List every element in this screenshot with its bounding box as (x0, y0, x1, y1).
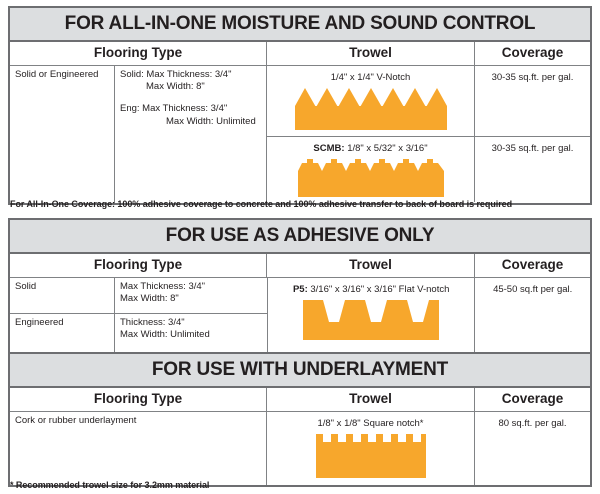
column-header-flooring-type: Flooring Type (10, 42, 267, 65)
coverage-text: 80 sq.ft. per gal. (480, 415, 585, 430)
trowel-illustration-scmb (272, 155, 469, 199)
trowel-label-text: 1/8" x 5/32" x 3/16" (345, 143, 428, 154)
spec-line: Solid: Max Thickness: 3/4" (120, 69, 261, 82)
v-notch-icon (295, 88, 447, 132)
cell-flooring-type-specs: Solid: Max Thickness: 3/4" Max Width: 8"… (115, 66, 267, 203)
trowel-coverage-stack: 1/4" x 1/4" V-Notch 30-35 sq.ft. per gal… (267, 66, 590, 203)
spec-line: Max Width: Unlimited (120, 116, 261, 129)
cell-coverage: 80 sq.ft. per gal. (475, 412, 590, 485)
table-header-row: Flooring Type Trowel Coverage (10, 254, 590, 278)
coverage-text: 45-50 sq.ft per gal. (480, 281, 585, 296)
trowel-label-text: 3/16" x 3/16" x 3/16" Flat V-notch (308, 284, 450, 295)
section-underlayment: FOR USE WITH UNDERLAYMENT Flooring Type … (8, 352, 592, 487)
square-notch-icon (316, 434, 426, 480)
cell-trowel-scmb: SCMB: 1/8" x 5/32" x 3/16" (267, 137, 475, 202)
spacer (120, 94, 261, 103)
column-header-flooring-type: Flooring Type (10, 254, 267, 277)
cell-flooring-type-category: Cork or rubber underlayment (10, 412, 267, 485)
spec-line: Max Width: 8" (120, 81, 261, 94)
spec-line: Max Width: Unlimited (120, 329, 262, 342)
column-header-trowel: Trowel (267, 42, 475, 65)
trowel-label-prefix: SCMB: (313, 143, 344, 154)
note-all-in-one-coverage: For All-In-One Coverage: 100% adhesive c… (10, 200, 512, 210)
trowel-selection-chart: FOR ALL-IN-ONE MOISTURE AND SOUND CONTRO… (0, 0, 600, 494)
flat-v-notch-icon (303, 300, 439, 342)
note-footer: * Recommended trowel size for 3.2mm mate… (10, 481, 209, 491)
scmb-notch-icon (298, 159, 444, 199)
cell-flooring-type-category: Solid or Engineered (10, 66, 115, 203)
flooring-type-text: Solid or Engineered (15, 69, 98, 80)
section-banner-all-in-one: FOR ALL-IN-ONE MOISTURE AND SOUND CONTRO… (10, 8, 590, 42)
table-underlayment: Flooring Type Trowel Coverage Cork or ru… (10, 388, 590, 485)
spec-line: Max Thickness: 3/4" (120, 281, 262, 294)
column-header-trowel: Trowel (267, 254, 475, 277)
column-header-coverage: Coverage (475, 388, 590, 411)
trowel-label: SCMB: 1/8" x 5/32" x 3/16" (272, 140, 469, 155)
column-header-flooring-type: Flooring Type (10, 388, 267, 411)
trowel-label-text: 1/8" x 1/8" Square notch* (317, 418, 423, 429)
section-banner-adhesive-only: FOR USE AS ADHESIVE ONLY (10, 220, 590, 254)
table-header-row: Flooring Type Trowel Coverage (10, 388, 590, 412)
trowel-illustration-square-notch (272, 430, 469, 480)
trowel-label-prefix: P5: (293, 284, 308, 295)
trowel-subrow: 1/4" x 1/4" V-Notch 30-35 sq.ft. per gal… (267, 66, 590, 136)
section-banner-underlayment: FOR USE WITH UNDERLAYMENT (10, 354, 590, 388)
trowel-label: 1/4" x 1/4" V-Notch (272, 69, 469, 84)
table-header-row: Flooring Type Trowel Coverage (10, 42, 590, 66)
spec-line: Thickness: 3/4" (120, 317, 262, 330)
trowel-label: P5: 3/16" x 3/16" x 3/16" Flat V-notch (273, 281, 469, 296)
cell-coverage: 30-35 sq.ft. per gal. (475, 66, 590, 136)
table-row: Solid Max Thickness: 3/4" Max Width: 8" (10, 278, 267, 313)
cell-flooring-type-specs: Max Thickness: 3/4" Max Width: 8" (115, 278, 267, 313)
spec-line: Eng: Max Thickness: 3/4" (120, 103, 261, 116)
column-header-trowel: Trowel (267, 388, 475, 411)
trowel-label: 1/8" x 1/8" Square notch* (272, 415, 469, 430)
cell-trowel-square-notch: 1/8" x 1/8" Square notch* (267, 412, 475, 485)
table-all-in-one: Flooring Type Trowel Coverage Solid or E… (10, 42, 590, 203)
column-header-coverage: Coverage (475, 42, 590, 65)
trowel-subrow: SCMB: 1/8" x 5/32" x 3/16" 30-35 sq.ft. … (267, 136, 590, 202)
column-header-coverage: Coverage (475, 254, 590, 277)
table-row: Cork or rubber underlayment 1/8" x 1/8" … (10, 412, 590, 485)
cell-flooring-type-category: Solid (10, 278, 115, 313)
section-adhesive-only: FOR USE AS ADHESIVE ONLY Flooring Type T… (8, 218, 592, 367)
trowel-illustration-p5 (273, 296, 469, 342)
section-all-in-one: FOR ALL-IN-ONE MOISTURE AND SOUND CONTRO… (8, 6, 592, 205)
trowel-illustration-v-notch (272, 84, 469, 132)
cell-coverage: 30-35 sq.ft. per gal. (475, 137, 590, 202)
coverage-text: 30-35 sq.ft. per gal. (480, 140, 585, 155)
spec-line: Max Width: 8" (120, 293, 262, 306)
cell-trowel-v-notch: 1/4" x 1/4" V-Notch (267, 66, 475, 136)
coverage-text: 30-35 sq.ft. per gal. (480, 69, 585, 84)
trowel-label-text: 1/4" x 1/4" V-Notch (331, 72, 411, 83)
table-adhesive-only: Flooring Type Trowel Coverage Solid Max … (10, 254, 590, 365)
table-row: Solid or Engineered Solid: Max Thickness… (10, 66, 590, 203)
